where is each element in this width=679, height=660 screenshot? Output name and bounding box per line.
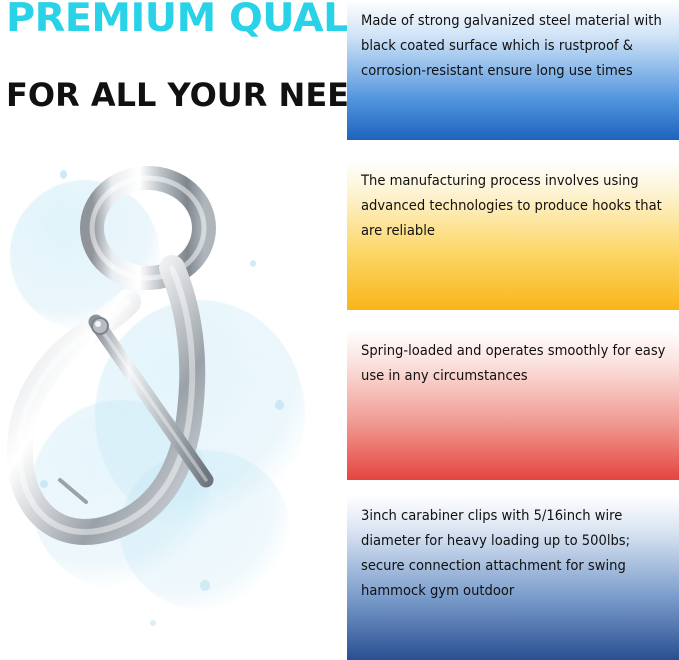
carabiner-clip-icon <box>0 150 340 660</box>
feature-card-manufacturing: The manufacturing process involves using… <box>347 160 679 310</box>
feature-list: Made of strong galvanized steel material… <box>347 0 679 660</box>
feature-text: The manufacturing process involves using… <box>361 168 667 243</box>
product-infographic: PREMIUM QUALITY FOR ALL YOUR NEED <box>0 0 679 660</box>
feature-card-specs: 3inch carabiner clips with 5/16inch wire… <box>347 495 679 660</box>
left-panel: PREMIUM QUALITY FOR ALL YOUR NEED <box>0 0 340 660</box>
headline-secondary: FOR ALL YOUR NEED <box>6 76 376 114</box>
feature-card-material: Made of strong galvanized steel material… <box>347 0 679 140</box>
feature-card-spring: Spring-loaded and operates smoothly for … <box>347 330 679 480</box>
product-image <box>0 150 340 660</box>
feature-text: Spring-loaded and operates smoothly for … <box>361 338 667 388</box>
feature-text: Made of strong galvanized steel material… <box>361 8 667 83</box>
feature-text: 3inch carabiner clips with 5/16inch wire… <box>361 503 667 603</box>
